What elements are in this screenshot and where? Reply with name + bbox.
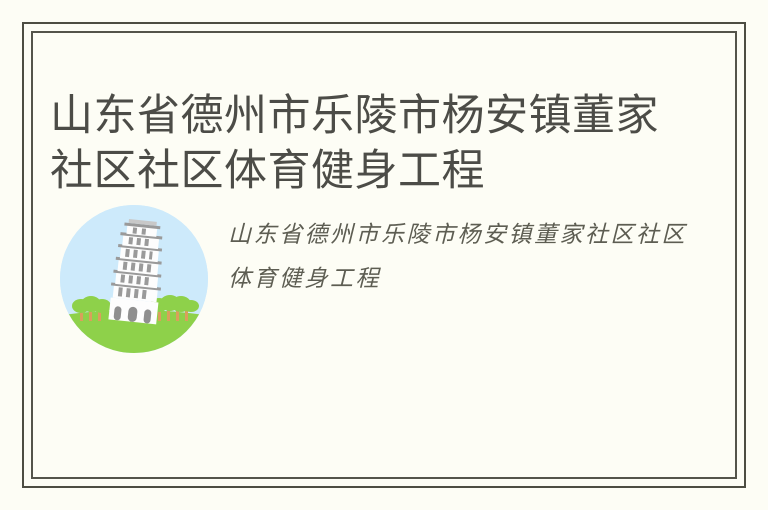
leaning-tower-svg	[60, 205, 208, 353]
page-title: 山东省德州市乐陵市杨安镇董家社区社区体育健身工程	[50, 89, 690, 199]
tower-icon	[60, 205, 208, 353]
body-text: 山东省德州市乐陵市杨安镇董家社区社区体育健身工程	[228, 213, 708, 301]
illustration-container	[60, 205, 208, 353]
page-root: 山东省德州市乐陵市杨安镇董家社区社区体育健身工程	[0, 0, 768, 510]
content-area: 山东省德州市乐陵市杨安镇董家社区社区体育健身工程	[50, 50, 720, 462]
